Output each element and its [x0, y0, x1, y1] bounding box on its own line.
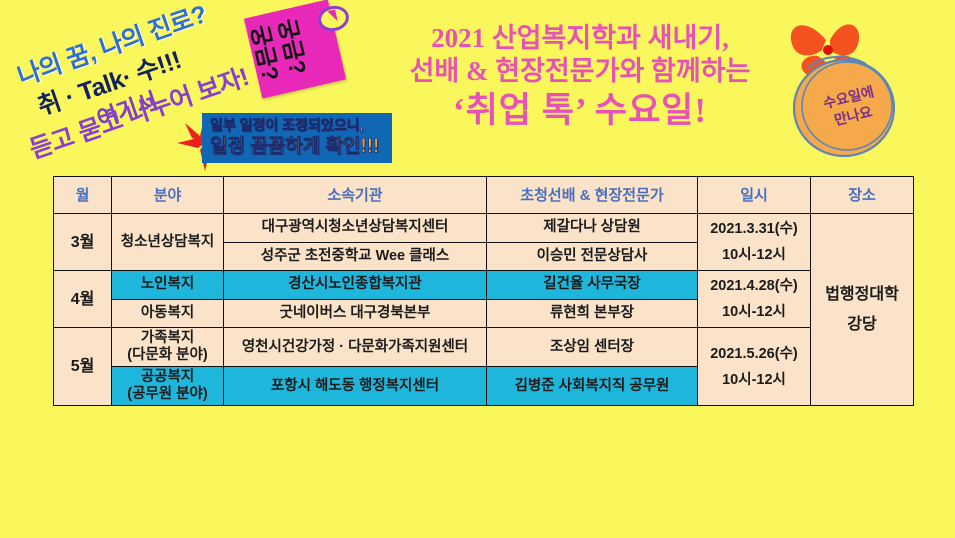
cell-guest: 제갈다나 상담원 [487, 214, 698, 243]
cell-field-public: 공공복지 (공무원 분야) [112, 367, 224, 406]
table-row: 3월 청소년상담복지 대구광역시청소년상담복지센터 제갈다나 상담원 2021.… [54, 214, 914, 243]
time-text: 10시-12시 [701, 367, 807, 393]
schedule-table: 월 분야 소속기관 초청선배 & 현장전문가 일시 장소 3월 청소년상담복지 … [53, 176, 914, 406]
cell-month-may: 5월 [54, 328, 112, 406]
table-row: 4월 노인복지 경산시노인종합복지관 길건율 사무국장 2021.4.28(수)… [54, 271, 914, 300]
cell-datetime-may: 2021.5.26(수) 10시-12시 [698, 328, 811, 406]
cell-org: 대구광역시청소년상담복지센터 [224, 214, 487, 243]
cell-guest: 이승민 전문상담사 [487, 242, 698, 271]
cell-datetime-april: 2021.4.28(수) 10시-12시 [698, 271, 811, 328]
title-line-2: 선배 & 현장전문가와 함께하는 [360, 55, 800, 88]
cell-venue: 법행정대학 강당 [811, 214, 914, 406]
table-row: 5월 가족복지 (다문화 분야) 영천시건강가정 · 다문화가족지원센터 조상임… [54, 328, 914, 367]
title-line-1: 2021 산업복지학과 새내기, [360, 22, 800, 55]
venue-line-2: 강당 [814, 310, 910, 340]
cell-field-child: 아동복지 [112, 299, 224, 328]
cell-month-march: 3월 [54, 214, 112, 271]
notice-line-2: 일정 꼼꼼하게 확인!!! [210, 135, 386, 159]
field-line-2: (공무원 분야) [115, 386, 220, 403]
cell-field-youth: 청소년상담복지 [112, 214, 224, 271]
cell-org: 포항시 해도동 행정복지센터 [224, 367, 487, 406]
cell-field-elderly: 노인복지 [112, 271, 224, 300]
cell-org: 경산시노인종합복지관 [224, 271, 487, 300]
cell-guest: 류현희 본부장 [487, 299, 698, 328]
cell-guest: 조상임 센터장 [487, 328, 698, 367]
column-header-org: 소속기관 [224, 177, 487, 214]
venue-line-1: 법행정대학 [814, 280, 910, 310]
title-line-3: ‘취업 톡’ 수요일! [360, 88, 800, 134]
time-text: 10시-12시 [701, 242, 807, 268]
cell-org: 굿네이버스 대구경북본부 [224, 299, 487, 328]
balloon-icon [778, 10, 910, 170]
field-line-1: 가족복지 [115, 330, 220, 347]
field-line-2: (다문화 분야) [115, 347, 220, 364]
column-header-venue: 장소 [811, 177, 914, 214]
table-header-row: 월 분야 소속기관 초청선배 & 현장전문가 일시 장소 [54, 177, 914, 214]
column-header-month: 월 [54, 177, 112, 214]
date-text: 2021.3.31(수) [701, 216, 807, 242]
cell-org: 성주군 초전중학교 Wee 클래스 [224, 242, 487, 271]
cell-field-family: 가족복지 (다문화 분야) [112, 328, 224, 367]
date-text: 2021.4.28(수) [701, 273, 807, 299]
cell-guest: 김병준 사회복지직 공무원 [487, 367, 698, 406]
date-text: 2021.5.26(수) [701, 341, 807, 367]
cell-datetime-march: 2021.3.31(수) 10시-12시 [698, 214, 811, 271]
column-header-guest: 초청선배 & 현장전문가 [487, 177, 698, 214]
time-text: 10시-12시 [701, 299, 807, 325]
column-header-date: 일시 [698, 177, 811, 214]
cell-month-april: 4월 [54, 271, 112, 328]
cell-guest: 길건율 사무국장 [487, 271, 698, 300]
field-line-1: 공공복지 [115, 369, 220, 386]
poster-title: 2021 산업복지학과 새내기, 선배 & 현장전문가와 함께하는 ‘취업 톡’… [360, 22, 800, 134]
poster-canvas: 나의 꿈, 나의 진로? 취 · Talk· 수!!! 여기서 듣고 묻고 나누… [0, 0, 955, 538]
column-header-field: 분야 [112, 177, 224, 214]
cell-org: 영천시건강가정 · 다문화가족지원센터 [224, 328, 487, 367]
